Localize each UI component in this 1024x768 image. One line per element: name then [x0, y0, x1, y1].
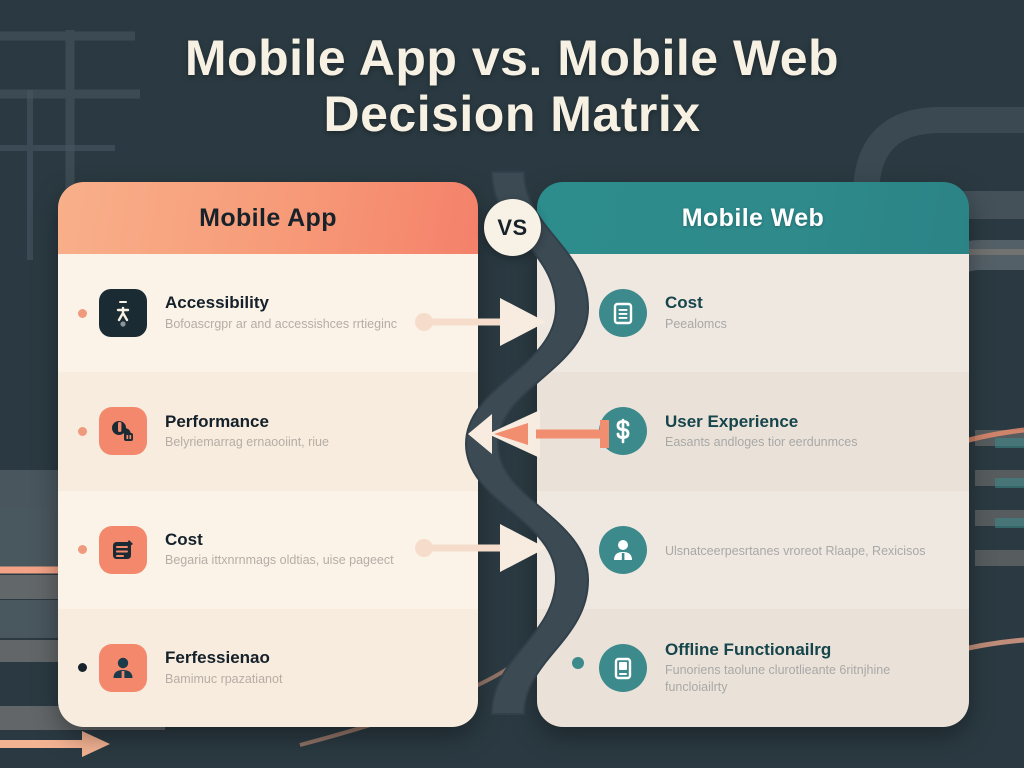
row-texts: User Experience Easants andloges tior ee… [665, 412, 857, 451]
column-body-mobile-app: Accessibility Bofoascrgpr ar and accessi… [58, 254, 478, 727]
row-title: Accessibility [165, 293, 397, 313]
column-header-mobile-web: Mobile Web [537, 182, 969, 254]
person-profile-icon [99, 644, 147, 692]
row-subtitle: Peealomcs [665, 316, 727, 333]
page-title: Mobile App vs. Mobile Web Decision Matri… [0, 30, 1024, 142]
column-body-mobile-web: Cost Peealomcs User Experience Easants a… [537, 254, 969, 727]
row-subtitle: Begaria ittxnrnmags oldtias, uise pageec… [165, 552, 394, 569]
list-item[interactable]: User Experience Easants andloges tior ee… [537, 372, 969, 490]
row-bullet [78, 427, 87, 436]
row-subtitle: Bofoascrgpr ar and accessishces rrtiegin… [165, 316, 397, 333]
title-line-1: Mobile App vs. Mobile Web [0, 30, 1024, 86]
row-title: Ferfessienao [165, 648, 282, 668]
row-title: Cost [665, 293, 727, 313]
title-line-2: Decision Matrix [0, 86, 1024, 142]
row-bullet [78, 663, 87, 672]
row-bullet [78, 545, 87, 554]
row-title: Performance [165, 412, 329, 432]
list-item[interactable]: Accessibility Bofoascrgpr ar and accessi… [58, 254, 478, 372]
row-title: Cost [165, 530, 394, 550]
speed-gauge-icon [99, 407, 147, 455]
phone-accessibility-icon [99, 289, 147, 337]
row-subtitle: Funoriens taolune clurotlieante 6ritnjhi… [665, 662, 935, 696]
person-profile-icon [599, 526, 647, 574]
row-bullet [78, 309, 87, 318]
row-title: Offline Functionailrg [665, 640, 935, 660]
row-subtitle: Ulsnatceerpesrtanes vroreot Rlaape, Rexi… [665, 543, 926, 560]
row-texts: Offline Functionailrg Funoriens taolune … [665, 640, 935, 696]
list-item[interactable]: Cost Begaria ittxnrnmags oldtias, uise p… [58, 491, 478, 609]
row-subtitle: Belyriemarrag ernaooiint, riue [165, 434, 329, 451]
list-item[interactable]: Offline Functionailrg Funoriens taolune … [537, 609, 969, 727]
row-subtitle: Easants andloges tior eerdunmces [665, 434, 857, 451]
row-texts: Ferfessienao Bamimuc rpazatianot [165, 648, 282, 687]
row-subtitle: Bamimuc rpazatianot [165, 671, 282, 688]
document-cost-icon [99, 526, 147, 574]
row-texts: Accessibility Bofoascrgpr ar and accessi… [165, 293, 397, 332]
row-title: User Experience [665, 412, 857, 432]
row-texts: Cost Begaria ittxnrnmags oldtias, uise p… [165, 530, 394, 569]
list-item[interactable]: Performance Belyriemarrag ernaooiint, ri… [58, 372, 478, 490]
list-item[interactable]: Ulsnatceerpesrtanes vroreot Rlaape, Rexi… [537, 491, 969, 609]
dollar-sign-icon [599, 407, 647, 455]
document-cost-icon [599, 289, 647, 337]
column-header-mobile-app: Mobile App [58, 182, 478, 254]
column-mobile-app: Mobile App Accessibility Bofoascrgpr ar … [58, 182, 478, 727]
vs-badge: VS [484, 199, 541, 256]
row-texts: Cost Peealomcs [665, 293, 727, 332]
list-item[interactable]: Ferfessienao Bamimuc rpazatianot [58, 609, 478, 727]
row-texts: Performance Belyriemarrag ernaooiint, ri… [165, 412, 329, 451]
vs-badge-label: VS [497, 215, 527, 241]
column-mobile-web: Mobile Web Cost Peealomcs [537, 182, 969, 727]
list-item[interactable]: Cost Peealomcs [537, 254, 969, 372]
offline-device-icon [599, 644, 647, 692]
row-texts: Ulsnatceerpesrtanes vroreot Rlaape, Rexi… [665, 540, 926, 560]
